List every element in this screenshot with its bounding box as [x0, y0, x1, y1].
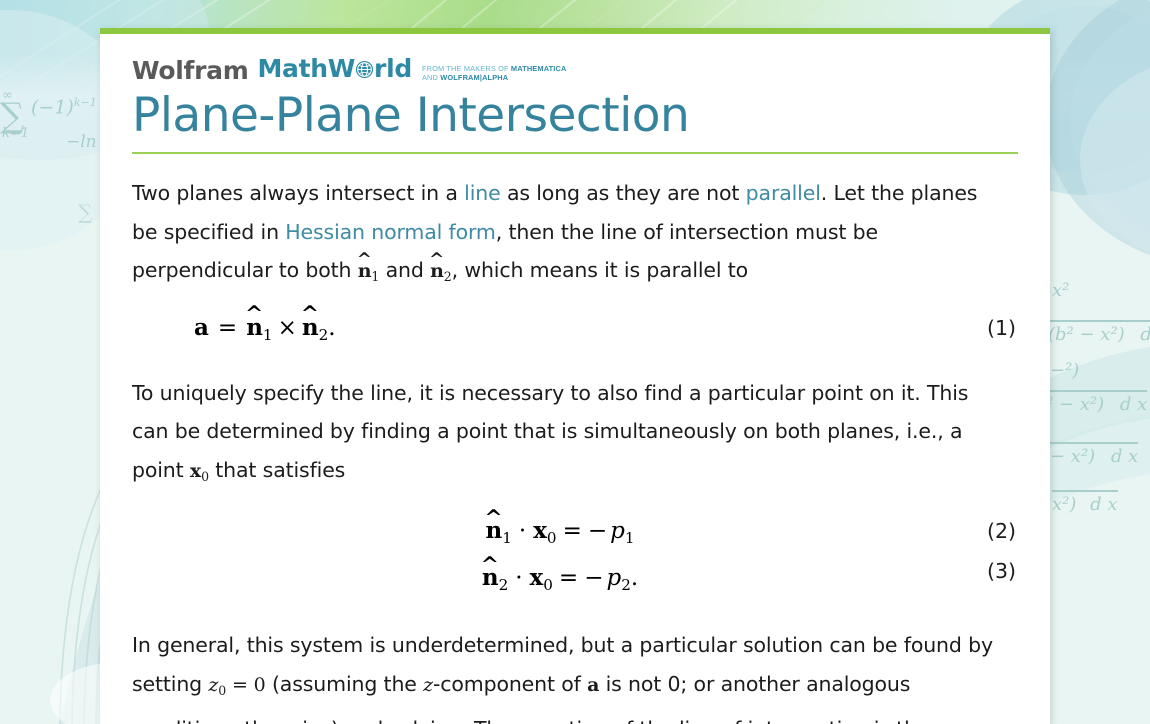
logo-wolfram-text: Wolfram	[132, 58, 248, 84]
page-root: ∞ ∑ k=1 (−1)k−1 −ln ∑ x² (b² − x²) d x −…	[0, 0, 1150, 724]
eq2-dot: ·	[519, 518, 526, 544]
bg-formula-right-5: − x²) d x	[1050, 442, 1138, 467]
bg-formula-right-4: ² − x²) d x	[1046, 390, 1147, 415]
equation-2: ^n1·x0=−p1	[132, 514, 1018, 555]
eq2-p: p	[610, 518, 625, 544]
article-card: Wolfram MathWrld FROM THE MAKERS OF MATH…	[100, 28, 1050, 724]
bg-formula-left-lower: k=1	[2, 126, 29, 141]
eq1-n2-sub: 2	[319, 326, 329, 344]
eq3-x-sub: 0	[543, 576, 553, 594]
eq3-p: p	[606, 565, 621, 591]
eq3-n-sub: 2	[499, 576, 509, 594]
eq1-period: .	[328, 315, 335, 341]
equation-1-row: a=^n1×^n2. (1)	[132, 311, 1018, 352]
eq2-p-sub: 1	[625, 529, 635, 547]
globe-icon	[355, 58, 374, 84]
eq2-equals: =	[563, 518, 582, 544]
eq3-period: .	[631, 565, 638, 591]
equation-number-2: (2)	[987, 514, 1016, 548]
link-parallel[interactable]: parallel	[746, 181, 821, 205]
equation-number-1: (1)	[987, 311, 1016, 345]
para1-text-6: , which means it is parallel to	[452, 258, 748, 282]
eq3-equals: =	[559, 565, 578, 591]
logo-math-part: Math	[257, 54, 327, 83]
link-line[interactable]: line	[464, 181, 500, 205]
n2-subscript: 2	[444, 269, 452, 284]
tagline-prefix-2: AND	[422, 73, 440, 82]
x0-subscript: 0	[201, 469, 209, 484]
bg-formula-left-term: (−1)k−1	[31, 96, 97, 118]
eq1-times: ×	[278, 315, 297, 341]
bg-formula-left-ln: −ln	[66, 132, 97, 152]
eq3-x: x	[530, 564, 544, 591]
z0-subscript: 0	[218, 683, 226, 698]
para1-text-2: as long as they are not	[501, 181, 746, 205]
eq1-n1-sub: 1	[263, 326, 273, 344]
equation-23-row: ^n1·x0=−p1 ^n2·x0=−p2. (2) (3)	[132, 514, 1018, 602]
para2-text-2: that satisfies	[209, 458, 345, 482]
link-hessian-normal-form[interactable]: Hessian normal form	[285, 220, 495, 244]
eq3-p-sub: 2	[621, 576, 631, 594]
bg-formula-right-3: −²)	[1050, 360, 1079, 381]
card-content: Wolfram MathWrld FROM THE MAKERS OF MATH…	[100, 34, 1050, 724]
inline-math-x0: x0	[190, 460, 209, 482]
eq3-dot: ·	[515, 565, 522, 591]
bg-formula-dx-1: d x	[1140, 324, 1150, 345]
eq3-minus: −	[584, 565, 603, 591]
z0-equals-zero: = 0	[226, 674, 266, 696]
eq1-equals: =	[218, 315, 237, 341]
bg-formula-right-1: x²	[1052, 280, 1069, 301]
inline-math-n2: ^n2	[430, 260, 452, 282]
paragraph-point: To uniquely specify the line, it is nece…	[132, 374, 1004, 497]
paragraph-general: In general, this system is underdetermin…	[132, 626, 1004, 724]
equation-3: ^n2·x0=−p2.	[132, 561, 1018, 602]
x0-symbol: x	[190, 460, 201, 482]
bg-formula-right-6: x²) d x	[1052, 490, 1118, 515]
logo-mathworld-text: MathWrld	[257, 56, 411, 84]
equation-1: a=^n1×^n2.	[132, 311, 1018, 352]
tagline-mathematica: MATHEMATICA	[511, 64, 567, 73]
inline-math-a: a	[587, 674, 599, 696]
z-symbol: z	[423, 674, 433, 696]
globe-icon-svg	[355, 60, 374, 79]
title-divider	[132, 152, 1018, 154]
bg-formula-exponent: k−1	[74, 96, 97, 109]
eq2-x: x	[533, 517, 547, 544]
inline-math-z: z	[423, 674, 433, 696]
z0-symbol: z	[208, 674, 218, 696]
inline-math-n1: ^n1	[358, 260, 380, 282]
logo-tagline-line1: FROM THE MAKERS OF MATHEMATICA	[422, 64, 567, 73]
tagline-prefix-1: FROM THE MAKERS OF	[422, 64, 511, 73]
page-title: Plane-Plane Intersection	[132, 86, 1018, 146]
eq2-x-sub: 0	[547, 529, 557, 547]
eq1-a: a	[194, 314, 209, 341]
logo-tagline-line2: AND WOLFRAM|ALPHA	[422, 73, 567, 82]
para1-text-5: and	[379, 258, 430, 282]
bg-formula-dx-4: d x	[1090, 494, 1117, 515]
para3-text-3: -component of	[433, 672, 587, 696]
logo-w-part: W	[328, 54, 355, 83]
bg-formula-right-2: (b² − x²) d x	[1048, 320, 1150, 345]
eq2-n-sub: 1	[502, 529, 512, 547]
logo-orld-part: rld	[374, 54, 412, 83]
equation-number-3: (3)	[987, 554, 1016, 588]
paragraph-intro: Two planes always intersect in a line as…	[132, 174, 1004, 297]
para1-text-1: Two planes always intersect in a	[132, 181, 464, 205]
bg-formula-left-small-sum: ∑	[78, 200, 92, 224]
bg-formula-dx-3: d x	[1111, 446, 1138, 467]
logo-tagline: FROM THE MAKERS OF MATHEMATICA AND WOLFR…	[422, 64, 567, 82]
eq2-minus: −	[588, 518, 607, 544]
tagline-wolframalpha: WOLFRAM|ALPHA	[440, 73, 508, 82]
site-logo[interactable]: Wolfram MathWrld FROM THE MAKERS OF MATH…	[132, 58, 1018, 84]
inline-math-z0: z0 = 0	[208, 674, 265, 696]
a-symbol: a	[587, 674, 599, 696]
bg-formula-dx-2: d x	[1120, 394, 1147, 415]
para3-text-2: (assuming the	[266, 672, 424, 696]
